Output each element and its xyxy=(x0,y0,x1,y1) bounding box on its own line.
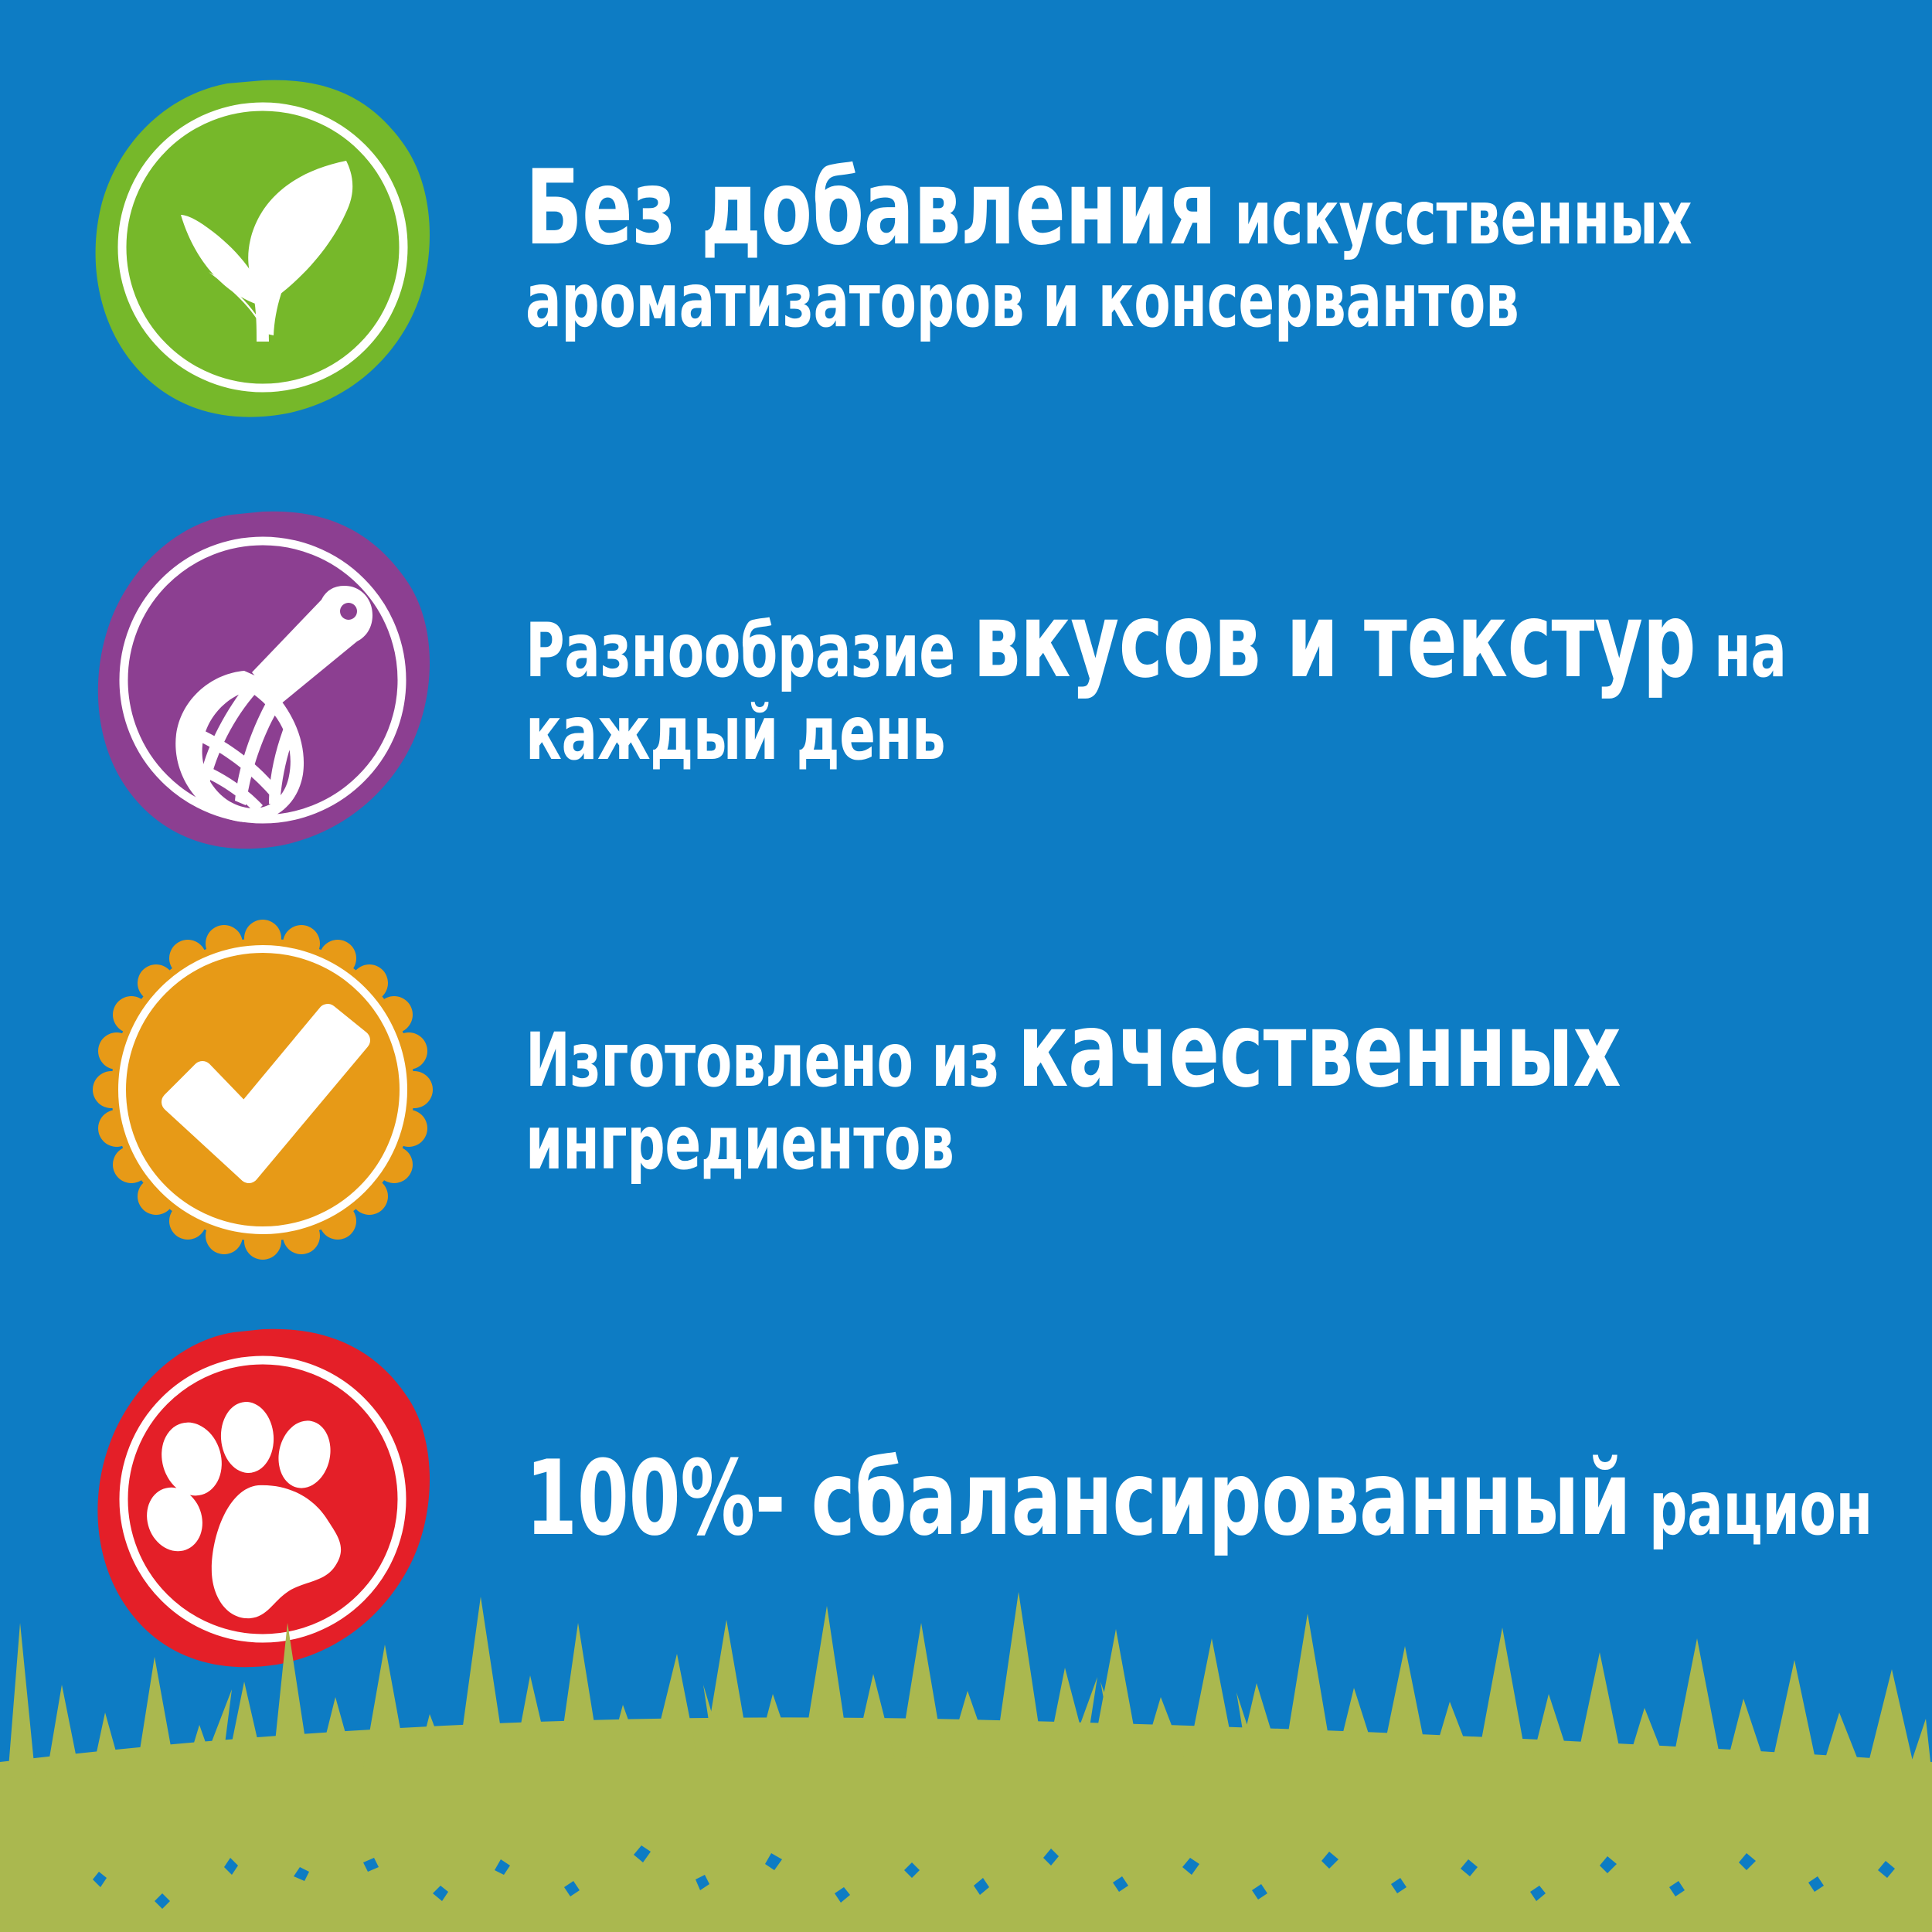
leaf-sprout-icon xyxy=(85,70,440,425)
feature-row: Разнообразие вкусов и текстур на каждый … xyxy=(0,502,1932,858)
feature-2-lead: Разнообразие xyxy=(526,607,973,694)
feature-2-emphasis: вкусов и текстур xyxy=(973,580,1696,701)
feature-3-emphasis: качественных xyxy=(1018,990,1621,1111)
feature-4-tail: рацион xyxy=(1631,1465,1872,1552)
feature-row: Без добавления искусственных ароматизато… xyxy=(0,70,1932,425)
feature-3-lead: Изготовлено из xyxy=(526,1017,1018,1104)
feature-4-emphasis: 100%- сбалансированный xyxy=(526,1438,1631,1559)
feature-row: Изготовлено из качественных ингредиентов xyxy=(0,912,1932,1267)
feature-1-emphasis: Без добавления xyxy=(526,148,1216,268)
feature-text-1: Без добавления искусственных ароматизато… xyxy=(526,155,1932,339)
check-badge-icon xyxy=(85,912,440,1267)
feature-row: 100%- сбалансированный рацион xyxy=(0,1321,1932,1677)
feature-text-4: 100%- сбалансированный рацион xyxy=(526,1445,1932,1553)
badge-whisk xyxy=(85,502,440,858)
feature-text-2: Разнообразие вкусов и текстур на каждый … xyxy=(526,587,1932,772)
badge-paw xyxy=(85,1321,440,1677)
paw-print-icon xyxy=(85,1321,440,1677)
badge-check xyxy=(85,912,440,1267)
badge-leaf-sprout xyxy=(85,70,440,425)
promo-banner: Без добавления искусственных ароматизато… xyxy=(0,0,1932,1932)
feature-3-tail: ингредиентов xyxy=(526,1100,954,1186)
feature-text-3: Изготовлено из качественных ингредиентов xyxy=(526,997,1932,1182)
whisk-icon xyxy=(85,502,440,858)
